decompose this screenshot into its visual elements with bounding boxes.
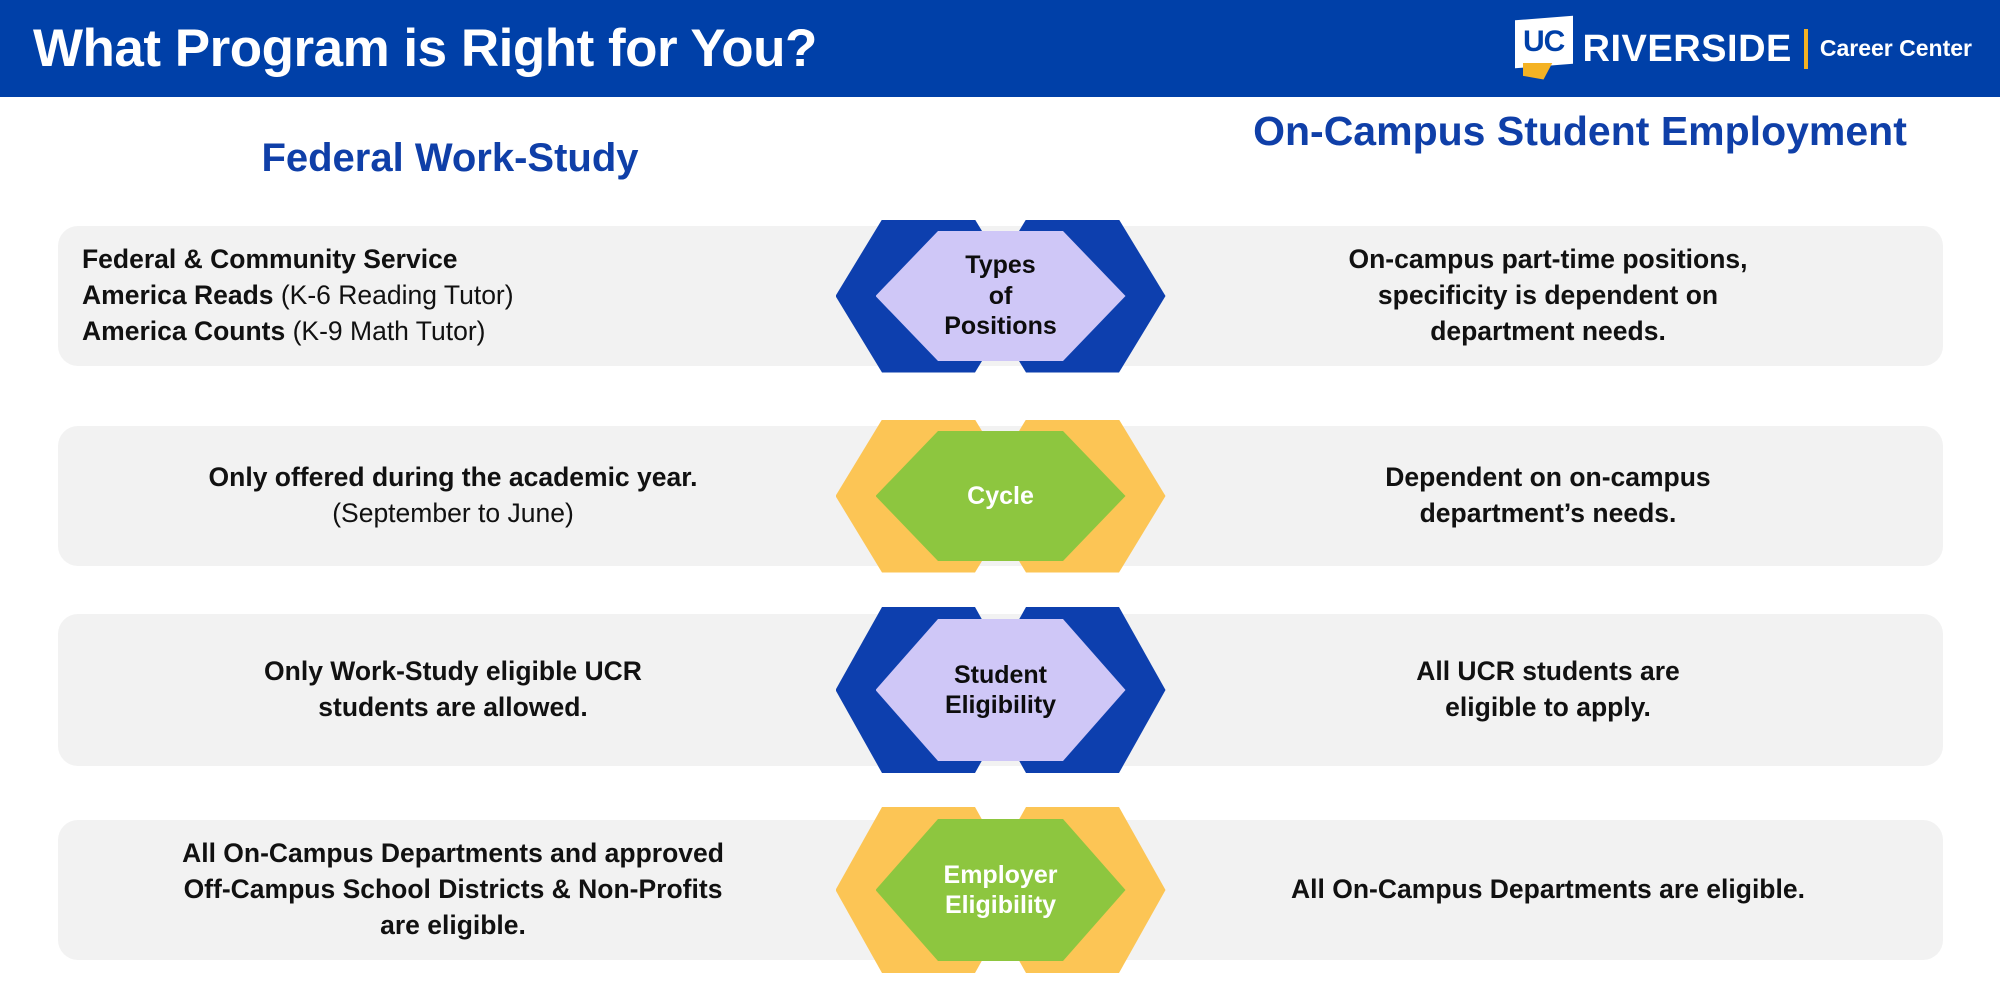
row-1-right-line-3: department needs.: [1430, 316, 1666, 346]
badge-types-of-positions: Types of Positions: [836, 226, 1166, 366]
badge-line-2: of: [989, 281, 1013, 312]
page-title: What Program is Right for You?: [33, 22, 817, 75]
row-1-left-line-1: Federal & Community Service: [82, 244, 458, 274]
row-1-left-cell: Federal & Community Service America Read…: [58, 226, 848, 366]
ucr-career-center-logo: UC RIVERSIDE Career Center: [1515, 18, 1972, 80]
row-4-left-line-3: are eligible.: [380, 910, 526, 940]
row-2-right-line-2: department’s needs.: [1420, 498, 1677, 528]
badge-student-eligibility: Student Eligibility: [836, 614, 1166, 766]
row-4-left-cell: All On-Campus Departments and approved O…: [58, 820, 848, 960]
infographic-page: What Program is Right for You? UC RIVERS…: [0, 0, 2000, 1000]
row-1-left-line-3-reg: (K-9 Math Tutor): [285, 316, 485, 346]
row-3-left-line-2: students are allowed.: [318, 692, 588, 722]
comparison-row-student-eligibility: Only Work-Study eligible UCR students ar…: [58, 614, 1943, 766]
page-header: What Program is Right for You? UC RIVERS…: [0, 0, 2000, 97]
row-3-right-line-2: eligible to apply.: [1445, 692, 1651, 722]
badge-line-1: Student: [954, 660, 1047, 691]
career-center-wordmark: Career Center: [1820, 37, 1972, 60]
row-2-left-line-1: Only offered during the academic year.: [209, 462, 698, 492]
logo-divider: [1804, 29, 1808, 69]
badge-cycle: Cycle: [836, 426, 1166, 566]
row-3-right-line-1: All UCR students are: [1416, 656, 1680, 686]
row-1-right-cell: On-campus part-time positions, specifici…: [1153, 226, 1943, 366]
badge-employer-eligibility: Employer Eligibility: [836, 820, 1166, 960]
row-2-right-line-1: Dependent on on-campus: [1385, 462, 1710, 492]
row-3-right-cell: All UCR students are eligible to apply.: [1153, 614, 1943, 766]
row-2-left-line-2: (September to June): [332, 498, 574, 528]
riverside-wordmark: RIVERSIDE: [1583, 30, 1792, 68]
badge-line-3: Positions: [944, 311, 1057, 342]
uc-logo-plate: UC: [1515, 15, 1573, 68]
row-2-left-cell: Only offered during the academic year. (…: [58, 426, 848, 566]
row-1-left-line-3-bold: America Counts: [82, 316, 285, 346]
comparison-row-types-of-positions: Federal & Community Service America Read…: [58, 226, 1943, 366]
badge-line-1: Employer: [944, 860, 1058, 891]
row-1-right-line-2: specificity is dependent on: [1378, 280, 1718, 310]
badge-line-1: Types: [965, 250, 1035, 281]
column-heading-federal-work-study: Federal Work-Study: [140, 135, 760, 182]
row-2-right-cell: Dependent on on-campus department’s need…: [1153, 426, 1943, 566]
row-1-left-line-2-reg: (K-6 Reading Tutor): [274, 280, 514, 310]
uc-logo-mark: UC: [1515, 18, 1573, 80]
comparison-row-cycle: Only offered during the academic year. (…: [58, 426, 1943, 566]
uc-logo-text: UC: [1523, 27, 1564, 57]
row-4-right-line-1: All On-Campus Departments are eligible.: [1291, 874, 1805, 904]
row-4-left-line-2: Off-Campus School Districts & Non-Profit…: [184, 874, 723, 904]
row-4-left-line-1: All On-Campus Departments and approved: [182, 838, 724, 868]
column-heading-on-campus-student-employment: On-Campus Student Employment: [1230, 107, 1930, 155]
comparison-row-employer-eligibility: All On-Campus Departments and approved O…: [58, 820, 1943, 960]
row-1-left-line-2-bold: America Reads: [82, 280, 274, 310]
badge-line-2: Eligibility: [945, 890, 1056, 921]
row-3-left-cell: Only Work-Study eligible UCR students ar…: [58, 614, 848, 766]
badge-line-1: Cycle: [967, 481, 1034, 512]
gold-tab-icon: [1523, 63, 1553, 80]
row-1-right-line-1: On-campus part-time positions,: [1348, 244, 1747, 274]
badge-line-2: Eligibility: [945, 690, 1056, 721]
row-4-right-cell: All On-Campus Departments are eligible.: [1153, 820, 1943, 960]
row-3-left-line-1: Only Work-Study eligible UCR: [264, 656, 642, 686]
